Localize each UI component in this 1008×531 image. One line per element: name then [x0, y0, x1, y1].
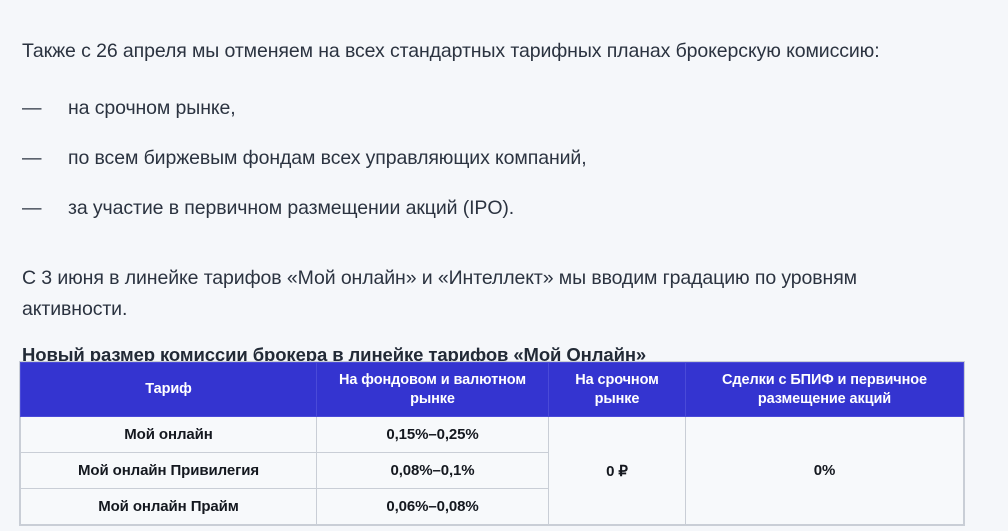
column-header-tariff: Тариф [21, 363, 317, 417]
column-header-urgent: На срочном рынке [549, 363, 686, 417]
tariff-commission-table: Тариф На фондовом и валютном рынке На ср… [20, 362, 964, 525]
dash-marker-icon: — [22, 93, 44, 123]
list-item-label: за участие в первичном размещении акций … [68, 193, 514, 223]
june-paragraph: С 3 июня в линейке тарифов «Мой онлайн» … [22, 263, 957, 325]
commission-exemption-list: — на срочном рынке, — по всем биржевым ф… [0, 93, 1008, 243]
dash-marker-icon: — [22, 193, 44, 223]
cell-tariff-name: Мой онлайн Привилегия [21, 453, 317, 489]
list-item-label: по всем биржевым фондам всех управляющих… [68, 143, 587, 173]
cell-urgent-market-merged: 0 ₽ [549, 417, 686, 525]
cell-tariff-name: Мой онлайн [21, 417, 317, 453]
list-item-label: на срочном рынке, [68, 93, 236, 123]
list-item: — на срочном рынке, [0, 93, 1008, 143]
table-row: Мой онлайн 0,15%–0,25% 0 ₽ 0% [21, 417, 964, 453]
article-page: Также с 26 апреля мы отменяем на всех ст… [0, 0, 1008, 531]
list-item: — за участие в первичном размещении акци… [0, 193, 1008, 243]
dash-marker-icon: — [22, 143, 44, 173]
list-item: — по всем биржевым фондам всех управляющ… [0, 143, 1008, 193]
column-header-bpif: Сделки с БПИФ и первичное размещение акц… [686, 363, 964, 417]
cell-tariff-name: Мой онлайн Прайм [21, 489, 317, 525]
intro-paragraph: Также с 26 апреля мы отменяем на всех ст… [22, 36, 957, 67]
cell-stock-fx: 0,06%–0,08% [317, 489, 549, 525]
table-header-row: Тариф На фондовом и валютном рынке На ср… [21, 363, 964, 417]
cell-stock-fx: 0,08%–0,1% [317, 453, 549, 489]
cell-stock-fx: 0,15%–0,25% [317, 417, 549, 453]
column-header-stock-fx: На фондовом и валютном рынке [317, 363, 549, 417]
cell-bpif-ipo-merged: 0% [686, 417, 964, 525]
